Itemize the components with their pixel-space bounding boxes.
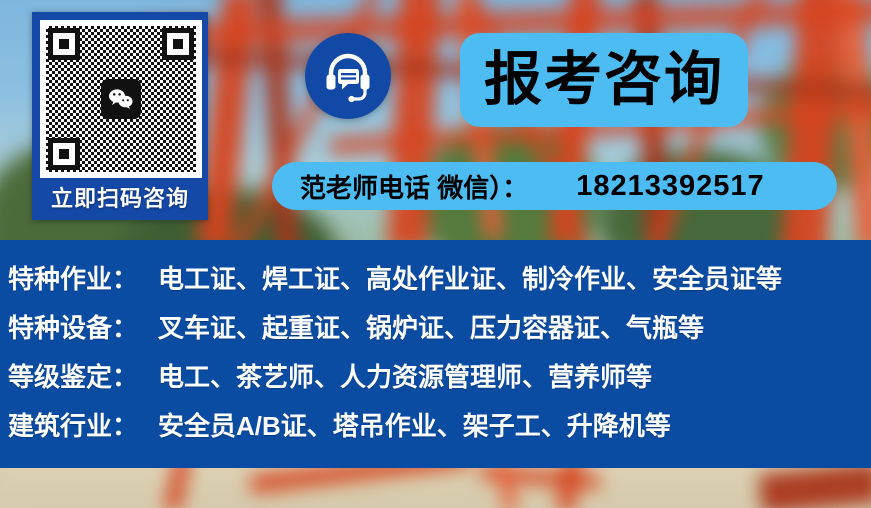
category-items: 电工证、焊工证、高处作业证、制冷作业、安全员证等 — [158, 266, 782, 292]
contact-label: 范老师电话 微信）： — [300, 168, 528, 205]
page-title: 报考咨询 — [484, 51, 724, 109]
category-items: 安全员A/B证、塔吊作业、架子工、升降机等 — [158, 413, 671, 439]
qr-code-frame — [40, 20, 202, 178]
category-label: 等级鉴定： — [8, 364, 144, 390]
category-row-grade-assessment: 等级鉴定： 电工、茶艺师、人力资源管理师、营养师等 — [8, 364, 871, 390]
category-items: 叉车证、起重证、锅炉证、压力容器证、气瓶等 — [158, 315, 704, 341]
contact-phone-number[interactable]: 18213392517 — [576, 170, 764, 203]
category-row-construction-industry: 建筑行业： 安全员A/B证、塔吊作业、架子工、升降机等 — [8, 413, 871, 439]
qr-caption: 立即扫码咨询 — [35, 181, 205, 213]
qr-finder-top-right — [162, 28, 194, 60]
category-row-special-equipment: 特种设备： 叉车证、起重证、锅炉证、压力容器证、气瓶等 — [8, 315, 871, 341]
category-label: 建筑行业： — [8, 413, 144, 439]
qr-code-image[interactable] — [46, 26, 196, 172]
promo-banner: 立即扫码咨询 报考咨询 范老师电话 微信）： 18213392517 特种作业：… — [0, 0, 871, 508]
qr-code-panel[interactable]: 立即扫码咨询 — [32, 12, 208, 220]
category-row-special-operations: 特种作业： 电工证、焊工证、高处作业证、制冷作业、安全员证等 — [8, 266, 871, 292]
qr-finder-bottom-left — [48, 138, 80, 170]
certificate-categories-panel: 特种作业： 电工证、焊工证、高处作业证、制冷作业、安全员证等 特种设备： 叉车证… — [0, 240, 871, 468]
wechat-icon — [101, 79, 141, 119]
category-label: 特种作业： — [8, 266, 144, 292]
headset-icon — [305, 33, 391, 119]
category-items: 电工、茶艺师、人力资源管理师、营养师等 — [158, 364, 652, 390]
category-label: 特种设备： — [8, 315, 144, 341]
qr-finder-top-left — [48, 28, 80, 60]
consultation-title-pill: 报考咨询 — [460, 33, 748, 127]
contact-pill[interactable]: 范老师电话 微信）： 18213392517 — [272, 162, 837, 210]
